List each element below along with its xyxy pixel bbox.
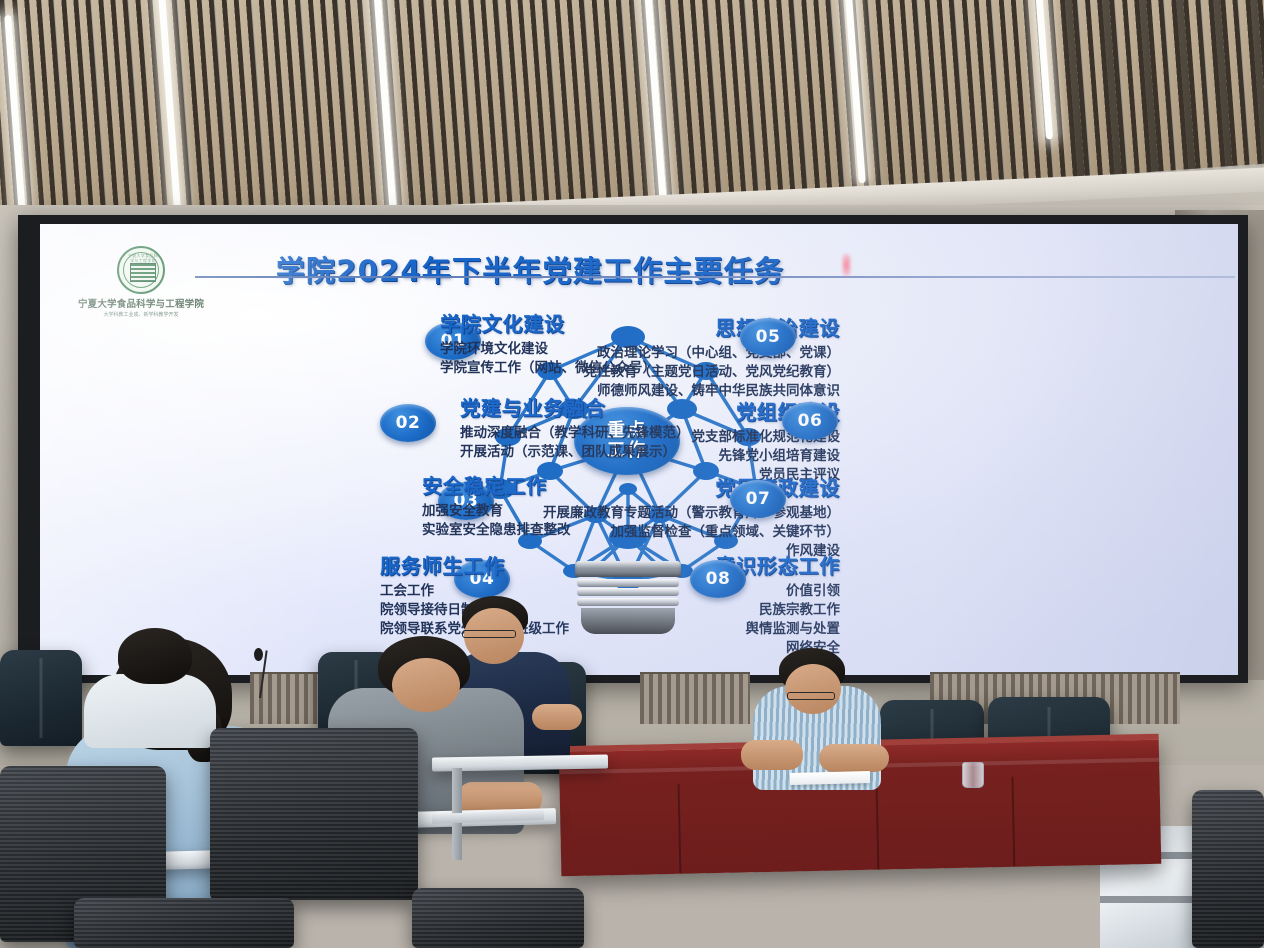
slide-item-heading: 党风廉政建设	[543, 472, 840, 501]
arm	[741, 740, 803, 770]
mesh-office-chair[interactable]	[210, 728, 418, 900]
slide-item-badge-02: 02	[380, 404, 436, 442]
mesh-office-chair[interactable]	[1192, 790, 1264, 948]
slide-item-badge-07: 07	[730, 480, 786, 518]
title-divider	[195, 276, 1235, 278]
head	[785, 664, 841, 714]
institution-subline: 大学科教工业成、新学科教学开发	[72, 311, 210, 318]
slide-item-badge-06: 06	[782, 402, 838, 440]
head	[392, 658, 460, 712]
torso	[84, 674, 216, 748]
projection-screen: 宁夏大学食品科学与工程学院 宁夏大学食品科学与工程学院 大学科教工业成、新学科教…	[40, 224, 1238, 675]
screenshot-root: 宁夏大学食品科学与工程学院 宁夏大学食品科学与工程学院 大学科教工业成、新学科教…	[0, 0, 1264, 948]
slide-item-line: 开展廉政教育专题活动（警示教育片、参观基地）	[543, 504, 840, 523]
slide-item-line: 民族宗教工作	[715, 601, 840, 620]
hair	[118, 628, 192, 684]
paper-document-icon[interactable]	[790, 771, 870, 785]
slide-item-badge-05: 05	[740, 318, 796, 356]
slide-header: 宁夏大学食品科学与工程学院 宁夏大学食品科学与工程学院 大学科教工业成、新学科教…	[40, 240, 1238, 306]
glasses-icon	[787, 692, 835, 700]
slide-item-line: 开展活动（示范课、团队成果展示）	[460, 443, 690, 462]
slide-item-badge-08: 08	[690, 560, 746, 598]
glass-water-cup-icon[interactable]	[962, 762, 984, 788]
attendee-striped-shirt-right	[735, 648, 895, 788]
slide-item-line: 学院宣传工作（网站、微信公众号）	[440, 359, 656, 378]
slide-item-heading: 学院文化建设	[440, 308, 656, 337]
slide-item-line: 推动深度融合（教学科研、先锋模范）	[460, 424, 690, 443]
slide-item-03: 党风廉政建设开展廉政教育专题活动（警示教育片、参观基地）加强监督检查（重点领域、…	[543, 472, 840, 561]
wall-radiator-grille-icon	[640, 672, 750, 724]
mesh-office-chair[interactable]	[412, 888, 584, 948]
bulb-screw-base-icon	[575, 561, 681, 639]
slide-item-line: 舆情监测与处置	[715, 620, 840, 639]
slide-item-heading: 服务师生工作	[380, 550, 569, 579]
institution-name: 宁夏大学食品科学与工程学院	[72, 296, 210, 310]
slide-item-heading: 党建与业务融合	[460, 392, 690, 421]
slide-item-line: 学院环境文化建设	[440, 340, 656, 359]
slide-item-06: 党建与业务融合推动深度融合（教学科研、先锋模范）开展活动（示范课、团队成果展示）	[460, 392, 690, 462]
emblem-book-icon	[130, 263, 156, 282]
arm	[819, 744, 889, 772]
slide-title: 学院2024年下半年党建工作主要任务	[190, 248, 870, 290]
wood-slat-ceiling	[0, 0, 1264, 228]
slide-item-line: 加强监督检查（重点领域、关键环节）	[543, 523, 840, 542]
slide-item-line: 实验室安全隐患排查整改	[422, 521, 571, 540]
attendee-white-shirt-far-left	[84, 628, 224, 748]
mesh-office-chair[interactable]	[74, 898, 294, 948]
laser-pointer-mark-icon	[842, 254, 851, 276]
slide-item-line: 加强安全教育	[422, 502, 571, 521]
slide-item-05: 学院文化建设学院环境文化建设学院宣传工作（网站、微信公众号）	[440, 308, 656, 378]
arm	[532, 704, 582, 730]
projection-screen-bezel: 宁夏大学食品科学与工程学院 宁夏大学食品科学与工程学院 大学科教工业成、新学科教…	[18, 215, 1248, 683]
slide-item-07: 安全稳定工作加强安全教育实验室安全隐患排查整改	[422, 470, 571, 540]
slide-item-line: 先锋党小组培育建设	[692, 447, 841, 466]
slide-item-heading: 安全稳定工作	[422, 470, 571, 499]
green-circular-emblem-icon: 宁夏大学食品科学与工程学院	[117, 246, 165, 294]
